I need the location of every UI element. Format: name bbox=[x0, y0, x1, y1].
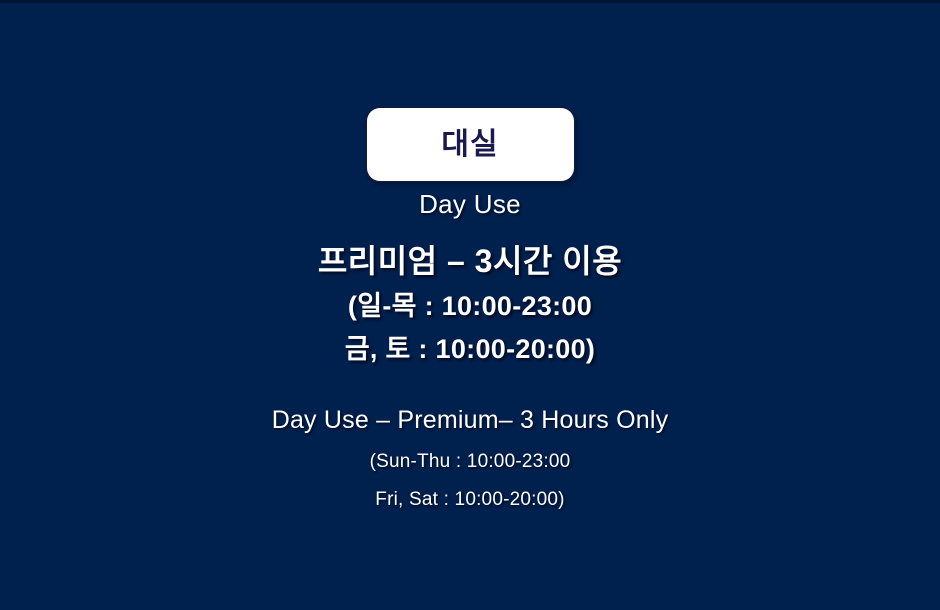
slide-canvas: 대실 Day Use 프리미엄 – 3시간 이용 (일-목 : 10:00-23… bbox=[0, 0, 940, 610]
english-heading: Day Use – Premium– 3 Hours Only bbox=[272, 406, 669, 434]
slide-content: 대실 Day Use 프리미엄 – 3시간 이용 (일-목 : 10:00-23… bbox=[0, 0, 940, 610]
korean-hours-line-2: 금, 토 : 10:00-20:00) bbox=[345, 334, 595, 364]
korean-hours-line-1: (일-목 : 10:00-23:00 bbox=[348, 291, 592, 321]
day-use-badge-label-ko: 대실 bbox=[441, 130, 498, 160]
korean-heading: 프리미엄 – 3시간 이용 bbox=[318, 244, 622, 280]
day-use-badge[interactable]: 대실 bbox=[367, 108, 574, 181]
english-hours-line-1: (Sun-Thu : 10:00-23:00 bbox=[370, 451, 571, 472]
english-hours-line-2: Fri, Sat : 10:00-20:00) bbox=[375, 489, 564, 510]
day-use-subtitle-en: Day Use bbox=[419, 190, 521, 219]
